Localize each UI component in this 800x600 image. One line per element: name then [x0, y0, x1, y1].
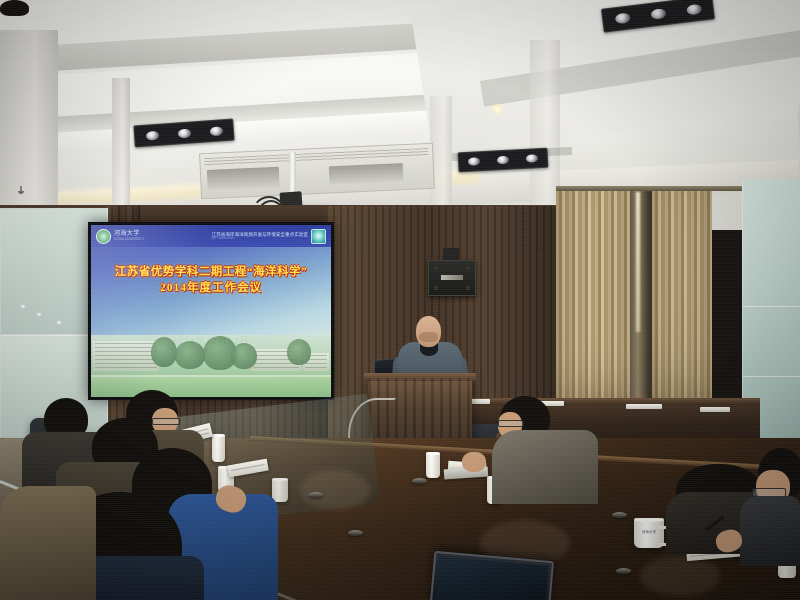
- cable-grommet-1: [308, 492, 323, 498]
- curtain-rod: [556, 186, 746, 191]
- attendee-left-tan-coat-body: [0, 486, 96, 600]
- glass-highlight-dot-3: [57, 321, 61, 324]
- university-name-english: HOHAI UNIVERSITY: [114, 237, 144, 241]
- campus-tree-2: [175, 341, 205, 369]
- speaker-bolt-br: [465, 285, 471, 291]
- window-daylight-strip: [636, 192, 640, 332]
- slide-title-line-1: 江苏省优势学科二期工程“海洋科学”: [91, 265, 331, 280]
- attendee-glasses-icon: [498, 420, 524, 427]
- credenza-paper-stack-3: [626, 404, 662, 409]
- slide-campus-photograph: [91, 335, 331, 397]
- presenter-at-podium: [0, 0, 29, 16]
- partition-seam-2: [743, 376, 800, 377]
- sprinkler-head-1: [18, 186, 24, 195]
- presenter-hair: [0, 0, 29, 16]
- glass-highlight-dot-2: [37, 313, 41, 316]
- downlight-4: [492, 104, 503, 115]
- table-reflection-3: [640, 556, 720, 596]
- glass-highlight-dot-1: [21, 305, 25, 308]
- hohai-university-logo: 河海大学 HOHAI UNIVERSITY: [96, 229, 144, 244]
- paper-cup-1[interactable]: [212, 434, 225, 462]
- presenter-face-shadow: [419, 332, 438, 342]
- cable-grommet-2: [348, 530, 363, 536]
- campus-tree-5: [287, 339, 311, 365]
- cable-grommet-4: [612, 512, 627, 518]
- table-reflection-1: [300, 470, 370, 510]
- laboratory-badge-icon: [311, 229, 326, 244]
- campus-tree-4: [231, 343, 257, 369]
- credenza-paper-stack-4: [700, 407, 730, 412]
- attendee-right-writing-body: [740, 496, 800, 566]
- slide-title-line-2: 2014年度工作会议: [91, 280, 331, 296]
- cable-grommet-3: [412, 478, 427, 484]
- slide-header-bar: 河海大学 HOHAI UNIVERSITY 江苏省海岸海洋资源开发与环境安全重点…: [91, 225, 331, 247]
- ceiling-return-left: [0, 30, 58, 230]
- partition-seam-1: [743, 306, 800, 307]
- conference-room-photo: 河海大学 HOHAI UNIVERSITY 江苏省海岸海洋资源开发与环境安全重点…: [0, 0, 800, 600]
- campus-tree-1: [151, 337, 177, 367]
- laboratory-logo: 江苏省海岸海洋资源开发与环境安全重点实验室 KEY LABORATORY: [212, 229, 326, 244]
- attendee-glasses-icon: [152, 418, 180, 425]
- wall-mounted-loudspeaker: [428, 260, 476, 296]
- notebook-line: [231, 464, 265, 471]
- projected-slide: 河海大学 HOHAI UNIVERSITY 江苏省海岸海洋资源开发与环境安全重点…: [91, 225, 331, 397]
- paper-cup-4[interactable]: [426, 452, 440, 478]
- branded-ceramic-mug[interactable]: 河海大学: [634, 518, 664, 548]
- laboratory-name-english: KEY LABORATORY: [212, 237, 308, 240]
- mug-branding-text: 河海大学: [639, 530, 659, 534]
- university-emblem-icon: [96, 229, 111, 244]
- cable-grommet-5: [616, 568, 631, 574]
- attendee-right-grey-coat-body: [492, 430, 598, 504]
- speaker-bolt-bl: [433, 285, 439, 291]
- speaker-brand-plate: [441, 275, 463, 280]
- ac-vent-right: [329, 163, 404, 184]
- slide-title: 江苏省优势学科二期工程“海洋科学” 2014年度工作会议: [91, 265, 331, 296]
- ac-vent-left: [207, 167, 280, 190]
- podium-top-lip: [364, 373, 476, 381]
- foreground-laptop-screen: [435, 556, 548, 600]
- speaker-bolt-tl: [433, 265, 439, 271]
- campus-building-left: [93, 341, 159, 371]
- speaker-bolt-tr: [465, 265, 471, 271]
- ceiling-rib-left: [112, 78, 130, 210]
- projection-screen: 河海大学 HOHAI UNIVERSITY 江苏省海岸海洋资源开发与环境安全重点…: [88, 222, 334, 400]
- projector-mounting-pole: [289, 152, 296, 194]
- attendee-right-grey-coat-hand: [462, 452, 486, 472]
- paper-cup-3[interactable]: [272, 478, 288, 502]
- campus-lawn: [91, 377, 331, 397]
